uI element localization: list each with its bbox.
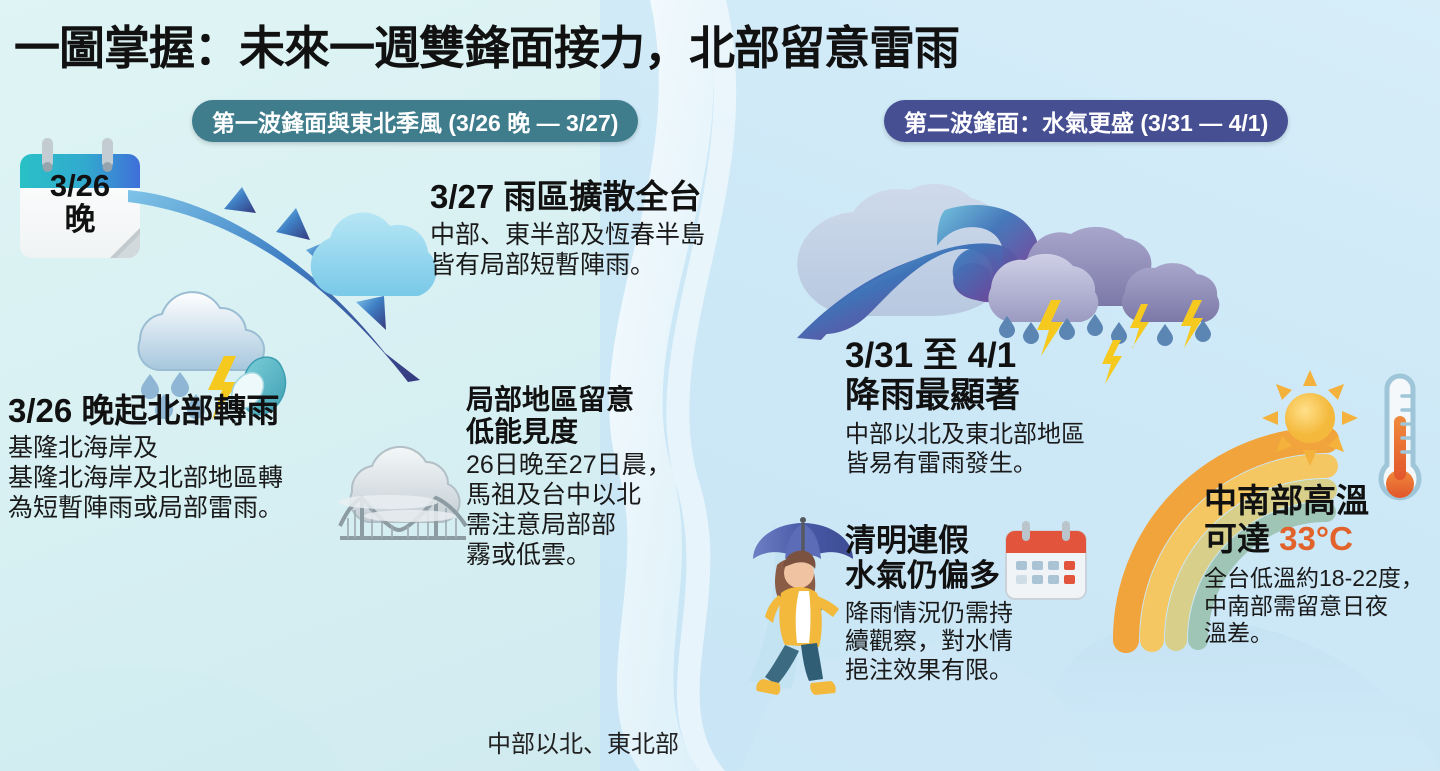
qingming-head-line-1: 清明連假 [845,523,1013,558]
rain-spread-heading: 3/27 雨區擴散全台 [430,178,705,216]
north-turns-rain-heading: 3/26 晚起北部轉雨 [8,392,283,430]
text-block-low-visibility: 局部地區留意 低能見度 26日晚至27日晨， 馬祖及台中以北 需注意局部部 霧或… [466,384,672,570]
high-temp-head-line-1: 中南部高溫 [1204,482,1424,520]
rain-spread-line-2: 皆有局部短暫陣雨。 [430,250,705,280]
north-turns-rain-line-3: 為短暫陣雨或局部雷雨。 [8,493,283,523]
qingming-line-3: 挹注效果有限。 [845,657,1013,686]
heaviest-rain-line-2: 皆易有雷雨發生。 [845,450,1085,479]
low-visibility-line-3: 需注意局部部 [466,510,672,540]
north-turns-rain-line-2: 基隆北海岸及北部地區轉 [8,463,283,493]
high-temp-heading: 中南部高溫 可達 33°C [1204,482,1424,557]
fog-bridge-icon [326,430,476,555]
qingming-line-1: 降雨情況仍需持 [845,600,1013,629]
high-temp-value: 33°C [1279,520,1353,557]
heaviest-rain-heading: 3/31 至 4/1 降雨最顯著 [845,336,1085,416]
qingming-heading: 清明連假 水氣仍偏多 [845,523,1013,594]
banner-second-front: 第二波鋒面：水氣更盛 (3/31 — 4/1) [884,100,1288,142]
high-temp-line-3: 溫差。 [1204,620,1424,648]
north-turns-rain-body: 基隆北海岸及 基隆北海岸及北部地區轉 為短暫陣雨或局部雷雨。 [8,433,283,523]
high-temp-head-line-2: 可達 33°C [1204,520,1424,558]
calendar-small-icon [1000,519,1092,604]
text-block-rain-spread: 3/27 雨區擴散全台 中部、東半部及恆春半島 皆有局部短暫陣雨。 [430,178,705,280]
rain-spread-body: 中部、東半部及恆春半島 皆有局部短暫陣雨。 [430,220,705,280]
text-block-qingming-holiday: 清明連假 水氣仍偏多 降雨情況仍需持 續觀察，對水情 挹注效果有限。 [845,523,1013,686]
high-temp-body: 全台低溫約18-22度， 中南部需留意日夜 溫差。 [1204,565,1424,648]
page-title: 一圖掌握：未來一週雙鋒面接力，北部留意雷雨 [14,12,959,78]
qingming-head-line-2: 水氣仍偏多 [845,558,1013,593]
qingming-line-2: 續觀察，對水情 [845,628,1013,657]
bottom-caption: 中部以北、東北部 [487,724,679,759]
high-temp-line-1: 全台低溫約18-22度， [1204,565,1424,593]
heaviest-rain-head-line-1: 3/31 至 4/1 [845,336,1085,376]
light-cloud-icon [311,213,437,296]
text-block-heaviest-rain: 3/31 至 4/1 降雨最顯著 中部以北及東北部地區 皆易有雷雨發生。 [845,336,1085,478]
low-visibility-body: 26日晚至27日晨， 馬祖及台中以北 需注意局部部 霧或低雲。 [466,450,672,570]
heaviest-rain-head-line-2: 降雨最顯著 [845,376,1085,416]
high-temp-line-2: 中南部需留意日夜 [1204,593,1424,621]
qingming-body: 降雨情況仍需持 續觀察，對水情 挹注效果有限。 [845,600,1013,686]
low-visibility-heading: 局部地區留意 低能見度 [466,384,672,448]
text-block-north-turns-rain: 3/26 晚起北部轉雨 基隆北海岸及 基隆北海岸及北部地區轉 為短暫陣雨或局部雷… [8,392,283,523]
heaviest-rain-line-1: 中部以北及東北部地區 [845,421,1085,450]
low-visibility-line-2: 馬祖及台中以北 [466,480,672,510]
infographic-canvas: 一圖掌握：未來一週雙鋒面接力，北部留意雷雨 第一波鋒面與東北季風 (3/26 晚… [0,0,1440,771]
heaviest-rain-body: 中部以北及東北部地區 皆易有雷雨發生。 [845,421,1085,479]
high-temp-reach-label: 可達 [1204,520,1279,557]
low-visibility-head-line-1: 局部地區留意 [466,384,672,416]
rain-spread-line-1: 中部、東半部及恆春半島 [430,220,705,250]
banner-first-front: 第一波鋒面與東北季風 (3/26 晚 — 3/27) [192,100,638,142]
low-visibility-line-4: 霧或低雲。 [466,540,672,570]
low-visibility-head-line-2: 低能見度 [466,416,672,448]
sun-icon [1262,370,1358,466]
text-block-south-high-temp: 中南部高溫 可達 33°C 全台低溫約18-22度， 中南部需留意日夜 溫差。 [1204,482,1424,648]
low-visibility-line-1: 26日晚至27日晨， [466,450,672,480]
north-turns-rain-line-1: 基隆北海岸及 [8,433,283,463]
